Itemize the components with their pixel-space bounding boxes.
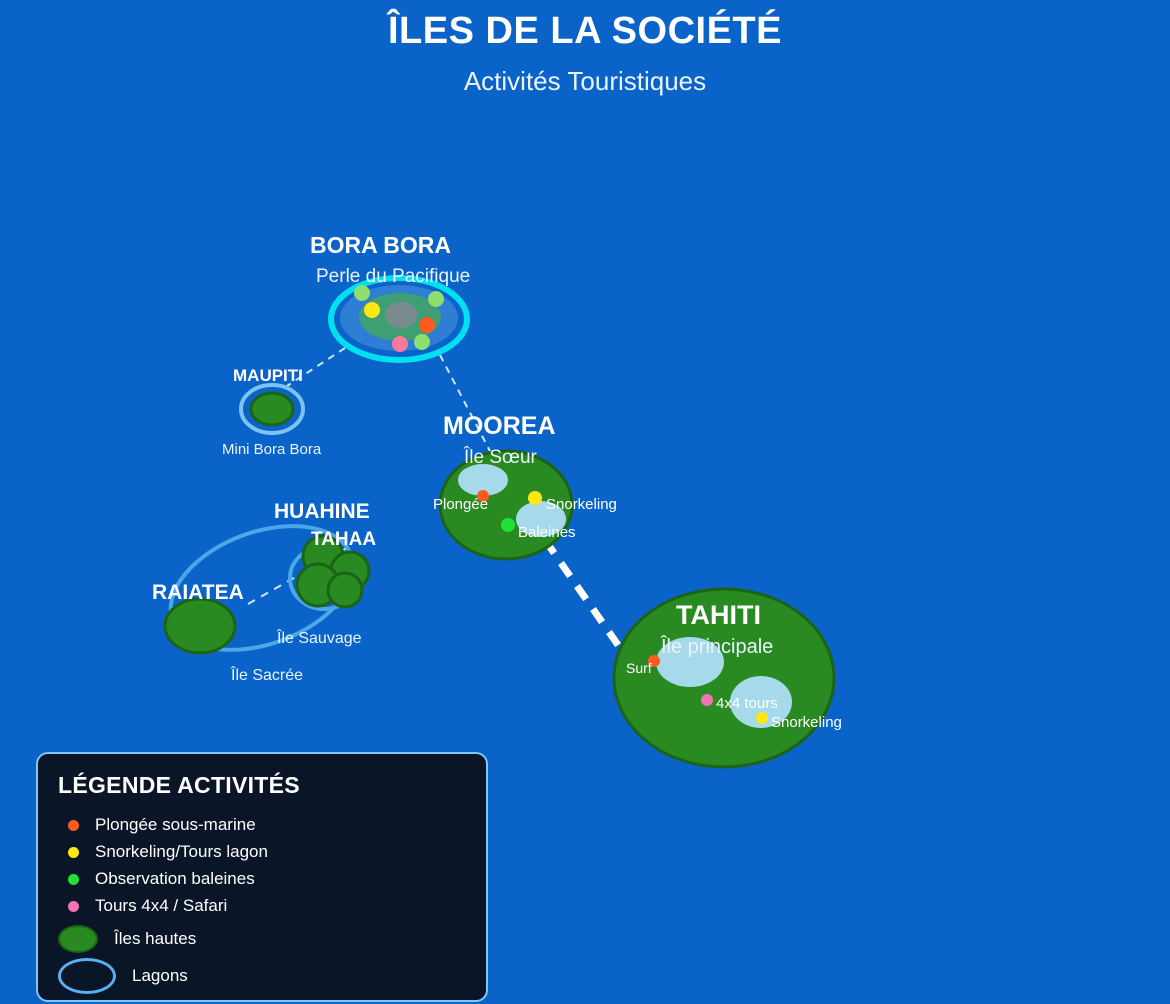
legend-label-lagoons: Lagons: [132, 966, 188, 986]
legend-label-safari: Tours 4x4 / Safari: [95, 896, 227, 916]
activity-label-tahiti-4x4: 4x4 tours: [716, 695, 778, 712]
legend-item-whales[interactable]: Observation baleines: [58, 868, 255, 890]
island-sublabel-maupiti: Mini Bora Bora: [222, 441, 321, 458]
whales-dot-icon: [68, 874, 79, 885]
legend-item-safari[interactable]: Tours 4x4 / Safari: [58, 895, 227, 917]
legend-item-lagoons[interactable]: Lagons: [58, 965, 188, 987]
activity-label-moorea-snorkeling: Snorkeling: [546, 496, 617, 513]
island-raiatea[interactable]: [165, 599, 235, 653]
tahiti-marker-safari[interactable]: [701, 694, 713, 706]
island-label-raiatea: RAIATEA: [152, 581, 244, 605]
activity-label-tahiti-surf: Surf: [626, 660, 652, 676]
island-maupiti[interactable]: [241, 385, 303, 433]
island-label-bora-bora: BORA BORA: [310, 232, 451, 259]
legend-title: LÉGENDE ACTIVITÉS: [58, 772, 300, 799]
island-sublabel-bora-bora: Perle du Pacifique: [316, 266, 470, 288]
tahaa-lobe-4: [328, 573, 362, 607]
legend-label-diving: Plongée sous-marine: [95, 815, 256, 835]
moorea-marker-whales[interactable]: [501, 518, 515, 532]
raiatea-island-body: [165, 599, 235, 653]
snorkeling-dot-icon: [68, 847, 79, 858]
bora-bora-marker-safari[interactable]: [392, 336, 408, 352]
island-bora-bora[interactable]: [331, 278, 467, 360]
legend-panel: LÉGENDE ACTIVITÉS Plongée sous-marine Sn…: [36, 752, 488, 1002]
island-sublabel-huahine: Île Sauvage: [277, 630, 362, 648]
legend-item-snorkeling[interactable]: Snorkeling/Tours lagon: [58, 841, 268, 863]
moorea-marker-snorkeling[interactable]: [528, 491, 542, 505]
island-sublabel-raiatea: Île Sacrée: [231, 667, 303, 685]
bora-bora-marker-whales-3[interactable]: [414, 334, 430, 350]
activity-label-moorea-plongee: Plongée: [433, 496, 488, 513]
island-label-huahine: HUAHINE: [274, 500, 370, 524]
island-label-tahaa: TAHAA: [311, 529, 376, 551]
tahiti-marker-snorkeling[interactable]: [756, 712, 768, 724]
high-island-shape-icon: [58, 925, 98, 953]
legend-item-diving[interactable]: Plongée sous-marine: [58, 814, 256, 836]
route-moorea-tahiti: [545, 540, 625, 655]
maupiti-island-body: [251, 393, 293, 425]
legend-item-high-islands[interactable]: Îles hautes: [58, 928, 196, 950]
safari-dot-icon: [68, 901, 79, 912]
legend-label-whales: Observation baleines: [95, 869, 255, 889]
bora-bora-marker-diving[interactable]: [419, 317, 435, 333]
legend-label-snorkeling: Snorkeling/Tours lagon: [95, 842, 268, 862]
lagoon-ring-icon: [58, 958, 116, 994]
island-sublabel-moorea: Île Sœur: [464, 447, 537, 469]
bora-bora-marker-snorkeling[interactable]: [364, 302, 380, 318]
bora-bora-mountain: [385, 302, 417, 328]
activity-label-moorea-baleines: Baleines: [518, 524, 576, 541]
diving-dot-icon: [68, 820, 79, 831]
map-canvas: ÎLES DE LA SOCIÉTÉ Activités Touristique…: [0, 0, 1170, 1004]
island-label-maupiti: MAUPITI: [233, 366, 303, 386]
island-label-tahiti: TAHITI: [676, 600, 761, 631]
island-sublabel-tahiti: Île principale: [661, 636, 773, 659]
legend-label-high-islands: Îles hautes: [114, 929, 196, 949]
island-label-moorea: MOOREA: [443, 412, 556, 441]
activity-label-tahiti-snorkeling: Snorkeling: [771, 714, 842, 731]
bora-bora-marker-whales-2[interactable]: [428, 291, 444, 307]
